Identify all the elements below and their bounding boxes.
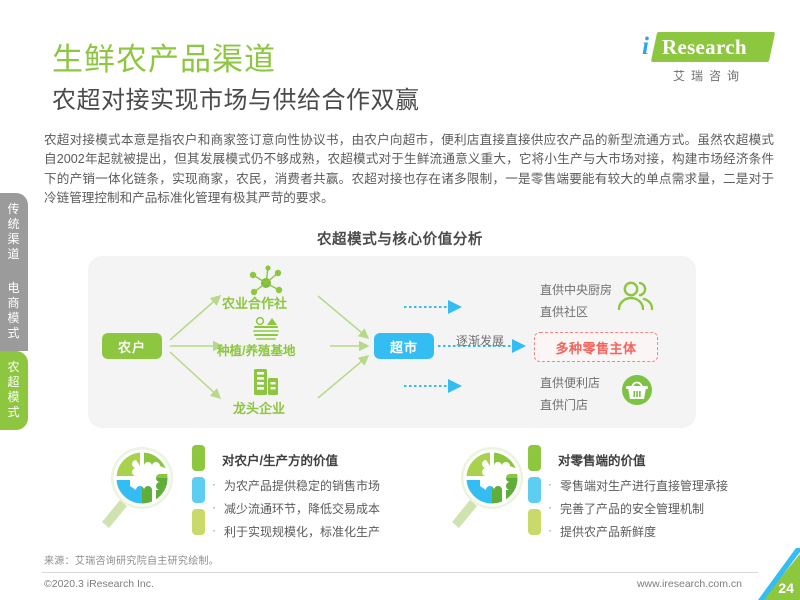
value-block-title: 对零售端的价值 — [558, 450, 646, 469]
sidebar-item-label: 式 — [0, 405, 28, 420]
iresearch-logo: i Research 艾瑞咨询 — [640, 30, 772, 84]
sidebar-item-label: 传 — [0, 202, 28, 217]
puzzle-magnifier-icon — [102, 447, 173, 528]
sidebar-item-nongchao-mode[interactable]: 农 超 模 式 — [0, 351, 28, 430]
sidebar-item-label: 超 — [0, 375, 28, 390]
value-block-item: 减少流通环节，降低交易成本 — [224, 500, 380, 517]
page-title: 生鲜农产品渠道 — [52, 42, 276, 78]
color-bar-yellow-green — [192, 509, 205, 535]
sidebar-item-label: 电 — [0, 281, 28, 296]
body-paragraph: 农超对接模式本意是指农户和商家签订意向性协议书，由农户向超市，便利店直接直接供应… — [44, 131, 774, 209]
sidebar-item-label: 式 — [0, 326, 28, 341]
page-number: 24 — [778, 580, 794, 596]
color-bar-green — [528, 445, 541, 471]
node-leading-enterprise-label: 龙头企业 — [233, 398, 285, 417]
sidebar-item-label: 模 — [0, 311, 28, 326]
website-link[interactable]: www.iresearch.com.cn — [637, 578, 742, 590]
node-supermarket: 超市 — [374, 333, 434, 359]
bullet-dot: · — [212, 523, 216, 537]
color-bar-green — [192, 445, 205, 471]
channel-central-kitchen: 直供中央厨房 — [540, 281, 612, 298]
sidebar-item-ecommerce-mode[interactable]: 电 商 模 式 — [0, 272, 28, 351]
node-cooperative-label: 农业合作社 — [222, 293, 287, 312]
node-multi-retail-entities: 多种零售主体 — [534, 332, 658, 362]
color-bar-yellow-green — [528, 509, 541, 535]
channel-stores: 直供门店 — [540, 396, 588, 413]
color-bar-blue — [192, 477, 205, 503]
channel-convenience-store: 直供便利店 — [540, 374, 600, 391]
bullet-dot: · — [212, 477, 216, 491]
sidebar-item-label: 商 — [0, 296, 28, 311]
channel-community: 直供社区 — [540, 303, 588, 320]
page-subtitle: 农超对接实现市场与供给合作双赢 — [52, 86, 420, 116]
sidebar-item-label: 农 — [0, 360, 28, 375]
evolve-label: 逐渐发展 — [456, 332, 504, 349]
value-block-item: 零售端对生产进行直接管理承接 — [560, 477, 728, 494]
logo-letter-i: i — [642, 34, 649, 60]
value-block-title: 对农户/生产方的价值 — [222, 450, 338, 469]
logo-chinese-name: 艾瑞咨询 — [640, 67, 772, 84]
bullet-dot: · — [548, 500, 552, 514]
logo-wordmark: i Research — [640, 30, 772, 64]
slide-root: i Research 艾瑞咨询 生鲜农产品渠道 农超对接实现市场与供给合作双赢 … — [0, 0, 800, 600]
bullet-dot: · — [548, 523, 552, 537]
sidebar-item-label: 模 — [0, 390, 28, 405]
value-block-item: 为农产品提供稳定的销售市场 — [224, 477, 380, 494]
sidebar-item-label: 道 — [0, 247, 28, 262]
node-farm-base-label: 种植/养殖基地 — [217, 340, 295, 359]
value-block-item: 利于实现规模化，标准化生产 — [224, 523, 380, 540]
puzzle-magnifier-icon — [452, 447, 523, 528]
logo-word-research: Research — [662, 35, 747, 59]
diagram-title: 农超模式与核心价值分析 — [0, 228, 800, 249]
node-farmer: 农户 — [102, 333, 162, 359]
copyright-text: ©2020.3 iResearch Inc. — [44, 578, 154, 590]
bullet-dot: · — [212, 500, 216, 514]
footer-divider — [42, 572, 758, 573]
color-bar-blue — [528, 477, 541, 503]
value-block-item: 完善了产品的安全管理机制 — [560, 500, 704, 517]
bullet-dot: · — [548, 477, 552, 491]
value-block-item: 提供农产品新鲜度 — [560, 523, 656, 540]
source-note: 来源：艾瑞咨询研究院自主研究绘制。 — [44, 552, 219, 567]
